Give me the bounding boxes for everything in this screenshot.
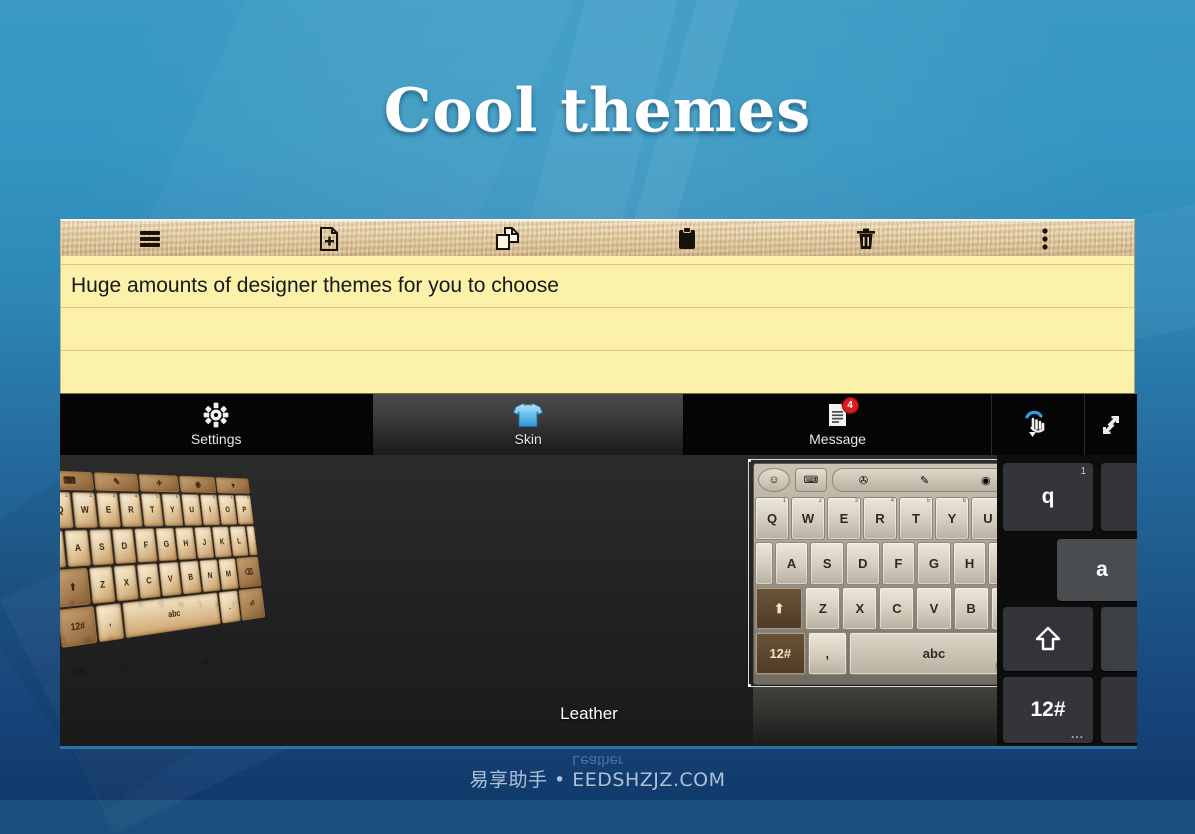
kb-key-sup: 6 (176, 495, 179, 500)
dark-key-q: q 1 (1003, 463, 1093, 531)
kb-key-sup: 3 (112, 494, 115, 499)
kb-key-sup: 4 (135, 494, 138, 499)
gesture-icon (1022, 410, 1054, 440)
new-note-icon (319, 227, 339, 251)
kb-key: G (155, 528, 177, 562)
kb-key-sup: 2 (96, 652, 99, 658)
tab-settings[interactable]: Settings (60, 394, 372, 455)
kb-key: P0 (238, 620, 257, 650)
kb-key: J (194, 527, 215, 559)
theme-label-leather: Leather (404, 704, 774, 724)
kb-key-sup: 7 (201, 647, 204, 652)
theme-thumb-vintage[interactable]: ⌨ ✎ ✈ ◉ ▾ Q1W2E3R4T5Y6U7I8O9P0 ASDFGHJKL… (60, 455, 360, 746)
copy-button[interactable] (419, 221, 598, 256)
kb-key: I8 (203, 621, 223, 652)
kb-key: P0 (235, 495, 254, 525)
tab-message[interactable]: 4 Message (684, 394, 991, 455)
kb-key: H (170, 588, 192, 620)
overflow-button[interactable] (955, 221, 1134, 256)
kb-key-sup: 3 (119, 651, 122, 657)
kb-key-sup: 9 (230, 496, 233, 501)
kb-row-2: ASDFGHJKL (60, 583, 253, 622)
menu-icon (137, 229, 163, 249)
kb-key: ⌨ (60, 470, 94, 490)
clipboard-icon (677, 227, 697, 251)
kb-key: ◉ (179, 476, 216, 493)
kb-key: T5 (143, 622, 166, 656)
page-title: Cool themes (0, 76, 1195, 146)
kb-key: ▾ (224, 651, 258, 669)
dark-key-a: a (1057, 539, 1137, 601)
theme-thumb-dark[interactable]: q 1 w a 12# ... ☻ (997, 455, 1137, 746)
kb-key-sup: 8 (213, 495, 216, 500)
delete-button[interactable] (776, 221, 955, 256)
kb-key: A (65, 530, 92, 567)
app-window: Huge amounts of designer themes for you … (60, 219, 1137, 746)
kb-key-sup: 1 (783, 498, 786, 504)
kb-key: ✎ (103, 657, 148, 678)
kb-key: ✎ (94, 472, 139, 491)
tshirt-icon (512, 402, 544, 428)
kb-key-sup: 1 (65, 493, 68, 499)
kb-key: W2 (72, 492, 98, 528)
dark-key-shift (1003, 607, 1093, 671)
kb-key: O9 (220, 621, 240, 652)
kb-key: D (107, 586, 131, 621)
dark-key-label: a (1096, 558, 1108, 582)
kb-key: Q1 (755, 497, 789, 540)
overflow-icon (1041, 227, 1049, 251)
kb-key: G (150, 587, 172, 620)
kb-key: I8 (200, 494, 220, 525)
kb-key-sup: 9 (236, 646, 239, 651)
kb-key: Y6 (161, 494, 183, 527)
watermark: 易享助手 • EEDSHZJZ.COM (0, 765, 1195, 792)
dark-key-num: 12# ... (1003, 677, 1093, 743)
kb-key: ☺ (758, 468, 790, 492)
message-badge: 4 (842, 397, 859, 414)
notepad-text: Huge amounts of designer themes for you … (71, 274, 1124, 298)
kb-key-sup: 0 (253, 645, 255, 650)
tab-message-label: Message (809, 431, 866, 447)
kb-row-1: Q1W2E3R4T5Y6U7I8O9P0 (60, 491, 254, 530)
kb-key-sup: 2 (89, 493, 92, 499)
tab-skin-label: Skin (515, 431, 542, 447)
kb-key-sup: 0 (247, 496, 249, 501)
kb-key: ⬆ (60, 575, 79, 583)
resize-button[interactable] (1084, 394, 1137, 455)
kb-key: L (225, 589, 244, 619)
dark-key-emoji: ☻ (1101, 677, 1137, 743)
shift-icon (1033, 624, 1063, 654)
menu-button[interactable] (61, 221, 240, 256)
dark-key-w: w (1101, 463, 1137, 531)
dark-key-sub: ... (1071, 727, 1084, 741)
kb-key: D (112, 529, 136, 564)
gear-icon-wrap (203, 402, 229, 428)
trash-icon (855, 227, 877, 251)
kb-key: ◉ (188, 653, 225, 672)
kb-key: ✈ (147, 655, 188, 675)
notepad-rule (61, 307, 1134, 308)
kb-key: U7 (184, 621, 205, 653)
theme-thumb-leather[interactable]: ☺ ⌨ ✇✎◉› ▾ Q1W2E3R4T5Y6U7I8O9P0 ASDFGHJK… (404, 455, 774, 746)
kb-key: Z (77, 575, 103, 584)
kb-key-sup: 7 (195, 495, 198, 500)
dark-key-z (1101, 607, 1137, 671)
kb-key: U7 (181, 494, 202, 526)
tab-skin[interactable]: Skin (372, 394, 683, 455)
kb-key-sup: 5 (156, 494, 159, 499)
resize-icon (1098, 412, 1124, 438)
kb-key: H (175, 527, 196, 560)
kb-key-sup: 1 (71, 653, 74, 659)
kb-key: S (89, 529, 114, 565)
kb-key: Y6 (164, 621, 186, 654)
dark-key-label: ☻ (1135, 698, 1137, 722)
kb-key: ✈ (138, 474, 179, 492)
kb-key-sup: 8 (219, 647, 222, 652)
reflection: ⌨ ✎ ✈ ◉ ▾ Q1W2E3R4T5Y6U7I8O9P0 ASDFGHJKL… (60, 575, 259, 683)
gesture-button[interactable] (991, 394, 1084, 455)
kb-key: J (189, 588, 210, 619)
kb-key: L (229, 526, 248, 557)
message-icon-wrap: 4 (826, 402, 850, 428)
kb-key (755, 542, 773, 585)
kb-key: K (207, 589, 227, 620)
kb-key: ⌨ (60, 660, 103, 682)
kb-key: E3 (96, 492, 121, 527)
notepad-toolbar (60, 219, 1135, 256)
kb-key-sup: 6 (182, 648, 185, 653)
kb-key-sup: 5 (162, 649, 165, 654)
kb-key: F (134, 528, 157, 563)
kb-key: E3 (99, 622, 124, 658)
dark-key-label: q (1042, 485, 1055, 509)
kb-key: T5 (141, 493, 164, 526)
gear-icon (203, 402, 229, 428)
tab-bar: Settings Skin (60, 393, 1137, 455)
copy-icon (495, 227, 521, 251)
theme-gallery: ⌨ ✎ ✈ ◉ ▾ Q1W2E3R4T5Y6U7I8O9P0 ASDFGHJKL… (60, 455, 1137, 749)
kb-key: W2 (74, 622, 100, 659)
kb-key: R4 (122, 622, 146, 657)
kb-key: Q1 (60, 623, 76, 661)
kb-key-sup: 4 (141, 650, 144, 655)
new-note-button[interactable] (240, 221, 419, 256)
tshirt-icon-wrap (512, 402, 544, 428)
kb-key: R4 (119, 493, 143, 527)
kb-key: A (60, 584, 85, 620)
notepad-rule (61, 264, 1134, 265)
kb-key: K (212, 526, 232, 557)
notepad-rule (61, 350, 1134, 351)
kb-key: S (83, 585, 108, 620)
tab-settings-label: Settings (191, 431, 242, 447)
clipboard-button[interactable] (597, 221, 776, 256)
dark-key-sup: 1 (1080, 466, 1086, 477)
kb-key: F (129, 586, 152, 620)
dark-key-label: 12# (1030, 698, 1065, 722)
kb-key: ▾ (216, 477, 250, 493)
